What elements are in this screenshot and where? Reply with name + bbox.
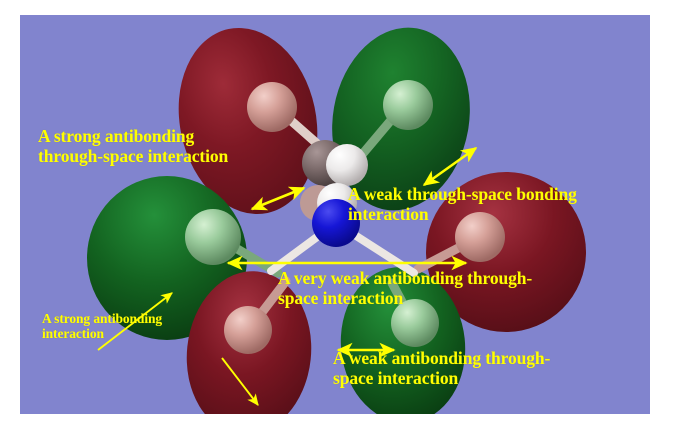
atom-left (185, 209, 241, 265)
atom-hydrogen-upper (326, 144, 368, 186)
label-strong-antibonding-interaction: A strong antibonding interaction (42, 311, 162, 341)
atom-lower-left (224, 306, 272, 354)
atom-upper-left (247, 82, 297, 132)
label-weak-antibonding-through-space: A weak antibonding through- space intera… (333, 349, 550, 388)
screenshot-root: A strong antibonding through-space inter… (0, 0, 674, 427)
label-very-weak-antibonding-through-space: A very weak antibonding through- space i… (278, 269, 532, 308)
label-weak-through-space-bonding: A weak through-space bonding interaction (348, 185, 577, 224)
atom-upper-right (383, 80, 433, 130)
label-strong-antibonding-through-space: A strong antibonding through-space inter… (38, 127, 228, 166)
orbital-canvas: A strong antibonding through-space inter… (20, 15, 650, 414)
